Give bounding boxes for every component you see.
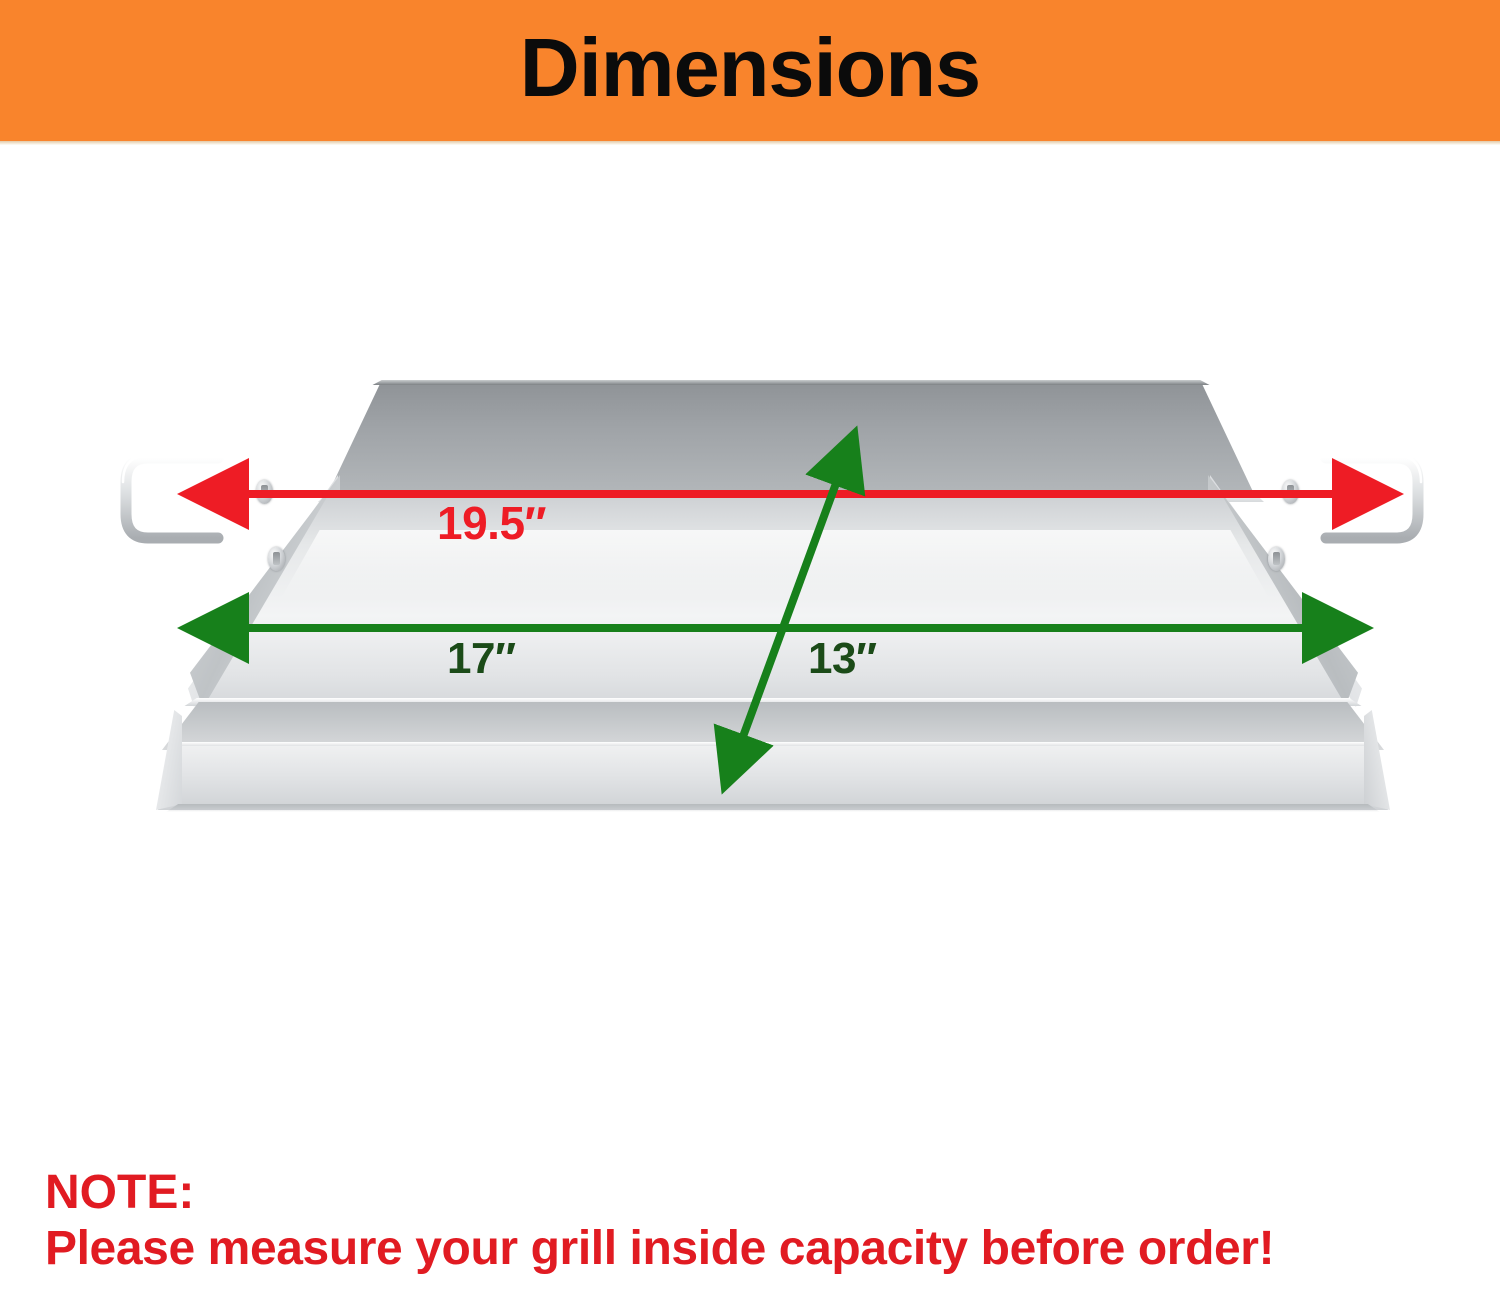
note-text: Please measure your grill inside capacit… [45,1224,1465,1274]
griddle-trough-shadow [166,804,1380,812]
griddle-surface-reflection [280,530,1270,600]
griddle-product-illustration [130,380,1415,840]
rivet-bolt-icon [261,485,267,498]
griddle-backsplash [326,380,1256,498]
rivet-bolt-icon [1273,552,1279,565]
griddle-trough-right-cap [1364,710,1390,810]
griddle-backsplash-top-edge [326,380,1256,385]
rivet-bolt-icon [1287,485,1293,498]
header-banner: Dimensions [0,0,1500,141]
page-title: Dimensions [520,26,980,109]
product-image-stage [0,145,1500,1150]
rivet-right-lower [1268,547,1285,571]
rivet-bolt-icon [273,552,279,565]
rivet-right-upper [1282,480,1299,504]
handle-icon-right [1320,452,1426,544]
note-label: NOTE: [45,1168,1465,1218]
handle-icon-left [118,452,224,544]
rivet-left-lower [268,547,285,571]
rivet-left-upper [256,480,273,504]
note-block: NOTE: Please measure your grill inside c… [45,1168,1465,1274]
griddle-trough-left-cap [156,710,182,810]
griddle-grease-trough-front [158,746,1388,810]
